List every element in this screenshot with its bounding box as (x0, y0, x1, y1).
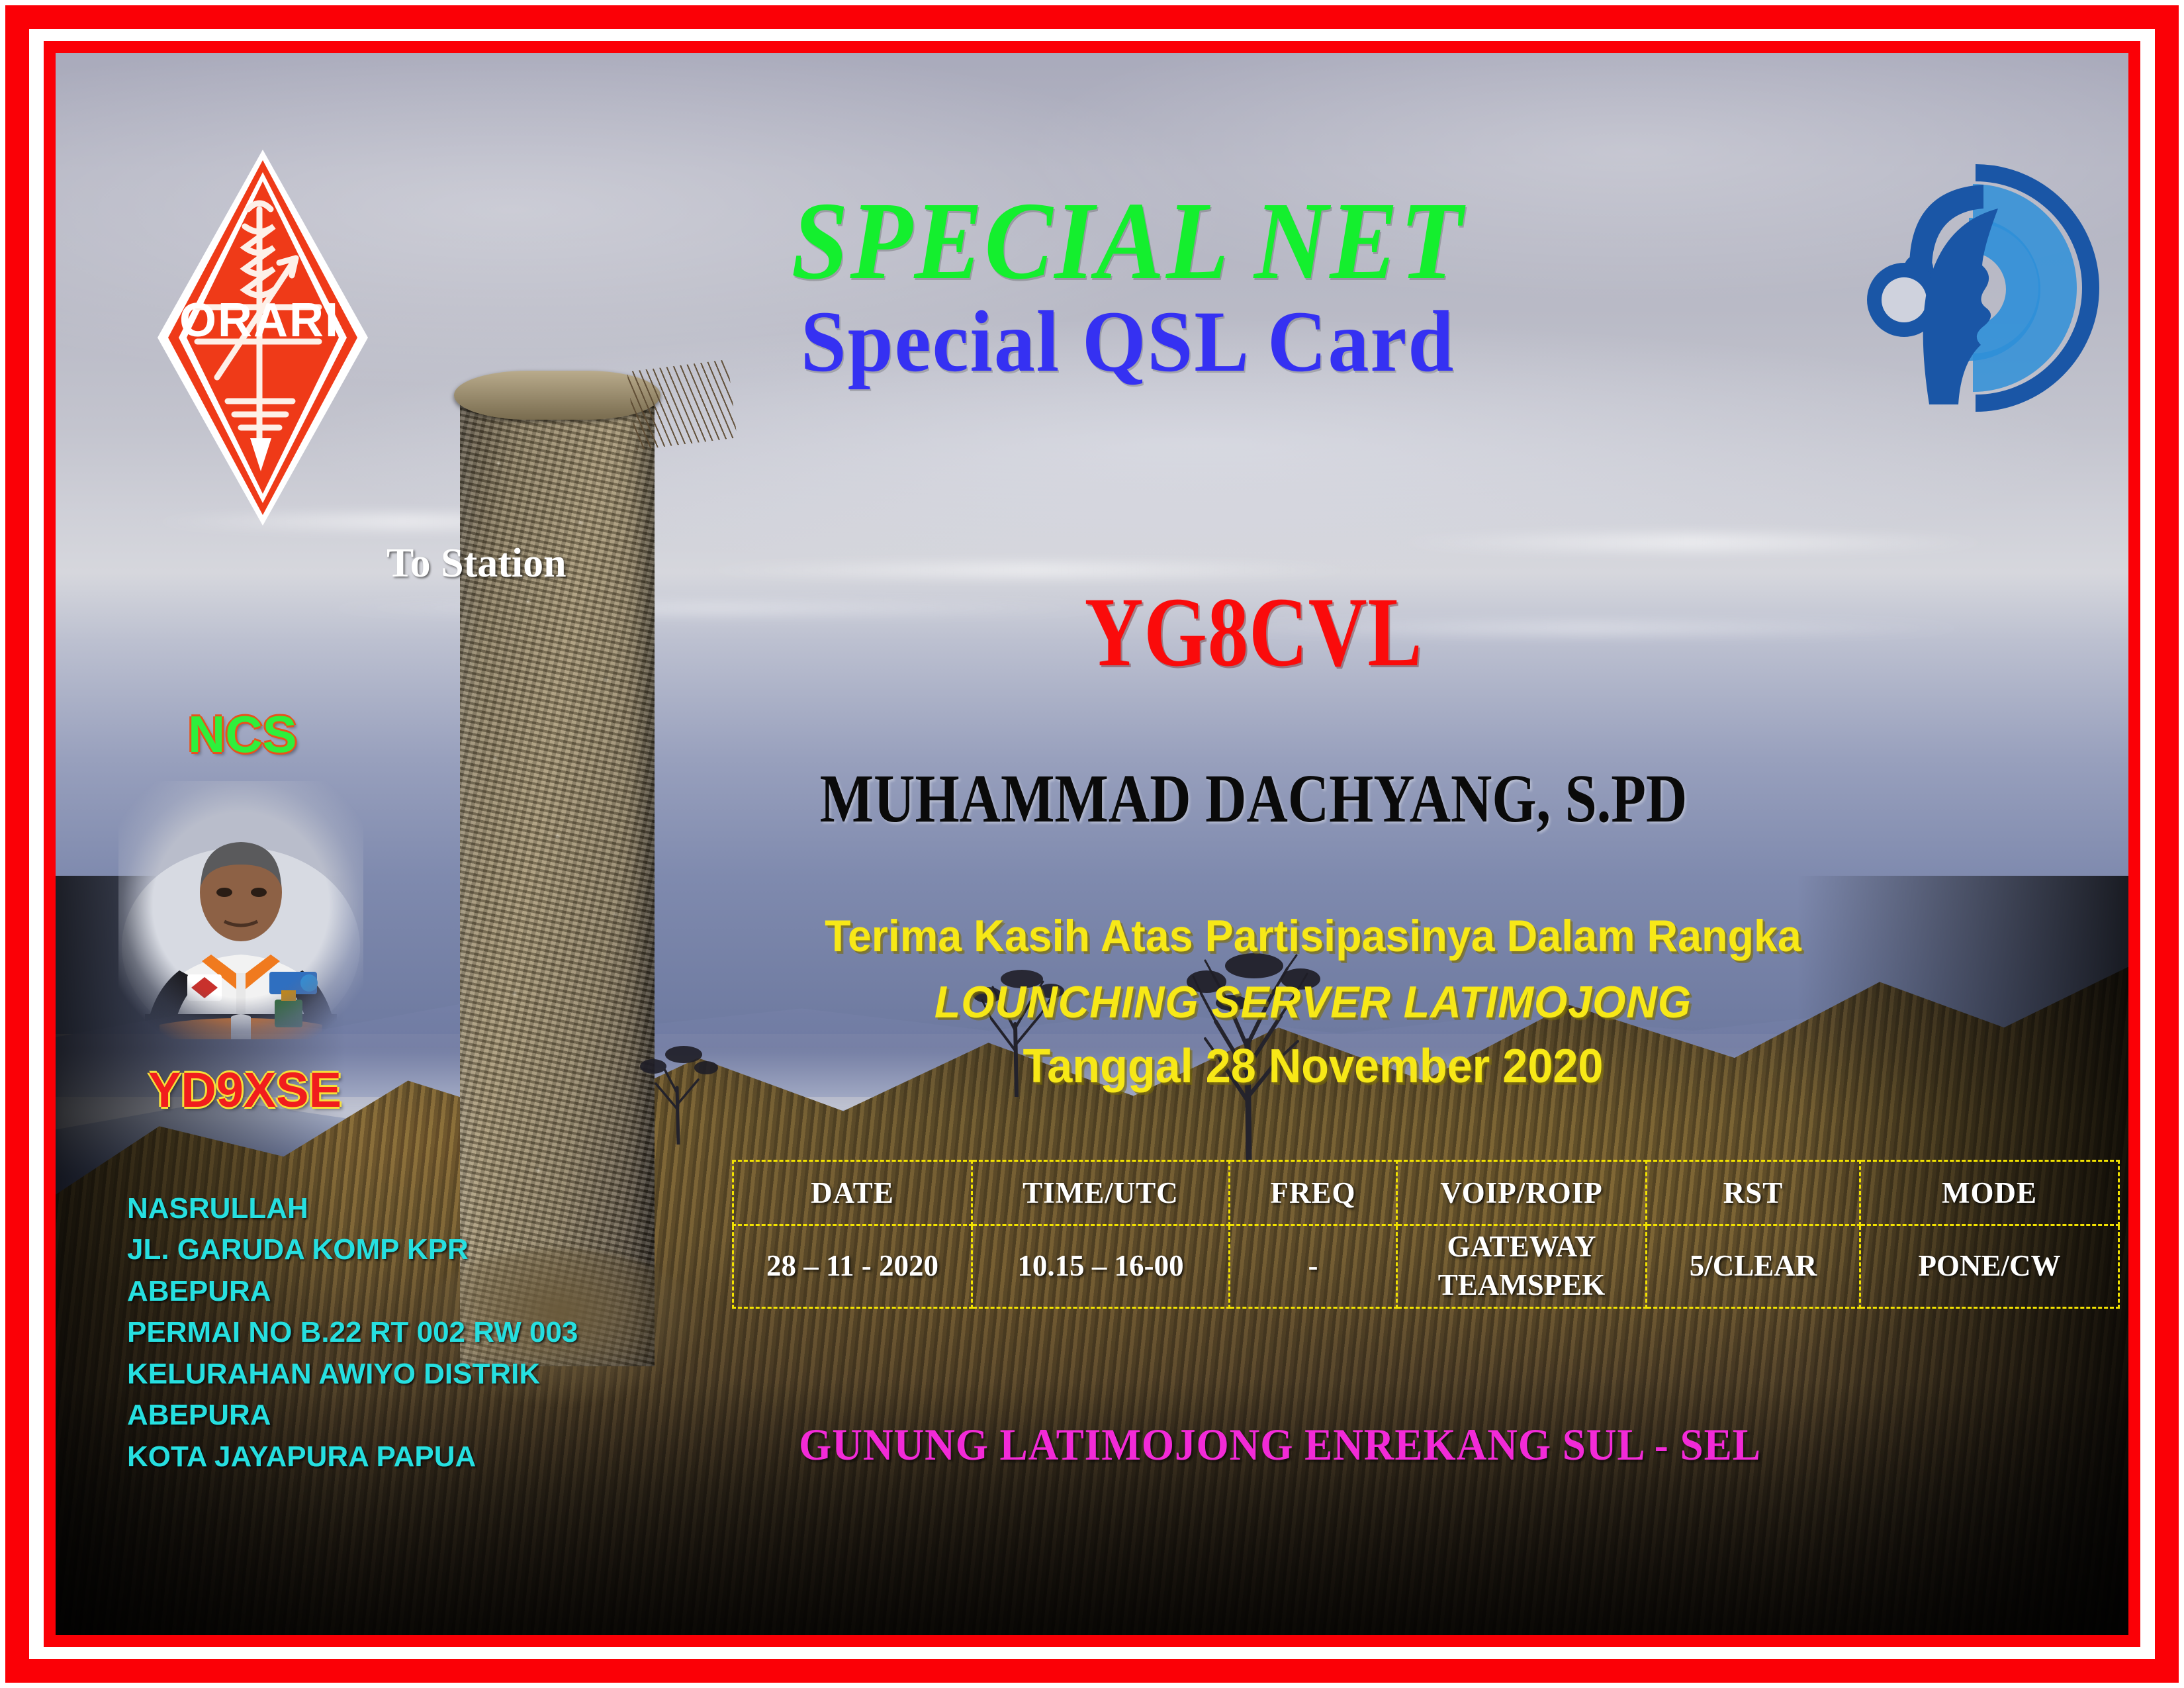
to-station-label: To Station (387, 543, 567, 584)
station-callsign: YG8CVL (901, 583, 1606, 682)
cell-date: 28 – 11 - 2020 (733, 1225, 972, 1308)
bare-tree-3 (636, 1032, 722, 1145)
subtitle-special-qsl-card: Special QSL Card (518, 298, 1737, 385)
th-rst: RST (1647, 1161, 1860, 1225)
ncs-callsign: YD9XSE (148, 1066, 341, 1115)
cell-mode: PONE/CW (1860, 1225, 2119, 1308)
cell-freq: - (1230, 1225, 1397, 1308)
qso-log-table: DATE TIME/UTC FREQ VOIP/ROIP RST MODE 28… (732, 1160, 2120, 1309)
th-mode: MODE (1860, 1161, 2119, 1225)
table-row: 28 – 11 - 2020 10.15 – 16-00 - GATEWAY T… (733, 1225, 2119, 1308)
th-date: DATE (733, 1161, 972, 1225)
address-line: ABEPURA (127, 1395, 578, 1436)
address-line: KELURAHAN AWIYO DISTRIK (127, 1354, 578, 1395)
ncs-address-block: NASRULLAH JL. GARUDA KOMP KPR ABEPURA PE… (127, 1188, 578, 1477)
orari-logo-text: ORARI (179, 294, 340, 347)
address-line: KOTA JAYAPURA PAPUA (127, 1436, 578, 1477)
qsl-card: ORARI (0, 0, 2184, 1688)
background-photograph: ORARI (56, 53, 2128, 1635)
cell-voip: GATEWAY TEAMSPEK (1397, 1225, 1647, 1308)
th-time: TIME/UTC (972, 1161, 1230, 1225)
address-line: JL. GARUDA KOMP KPR (127, 1229, 578, 1270)
ncs-operator-photo (118, 781, 363, 1039)
event-place-line: GUNUNG LATIMOJONG ENREKANG SUL - SEL (696, 1422, 1865, 1467)
operator-name: MUHAMMAD DACHYANG, S.PD (754, 765, 1754, 833)
page-title-special-net: SPECIAL NET (531, 185, 1724, 297)
orari-diamond-logo: ORARI (154, 146, 372, 530)
event-name-line: LOUNCHING SERVER LATIMOJONG (735, 980, 1891, 1025)
th-freq: FREQ (1230, 1161, 1397, 1225)
ncs-label: NCS (188, 708, 297, 760)
cell-time: 10.15 – 16-00 (972, 1225, 1230, 1308)
cell-rst: 5/CLEAR (1647, 1225, 1860, 1308)
address-line: NASRULLAH (127, 1188, 578, 1229)
address-line: ABEPURA (127, 1271, 578, 1312)
headset-profile-waves-logo (1852, 156, 2117, 420)
event-thanks-line: Terima Kasih Atas Partisipasinya Dalam R… (735, 914, 1891, 959)
cell-voip-line1: GATEWAY (1398, 1228, 1645, 1266)
event-date-line: Tanggal 28 November 2020 (735, 1043, 1891, 1090)
cell-voip-line2: TEAMSPEK (1398, 1266, 1645, 1305)
table-header-row: DATE TIME/UTC FREQ VOIP/ROIP RST MODE (733, 1161, 2119, 1225)
th-voip: VOIP/ROIP (1397, 1161, 1647, 1225)
address-line: PERMAI NO B.22 RT 002 RW 003 (127, 1312, 578, 1353)
